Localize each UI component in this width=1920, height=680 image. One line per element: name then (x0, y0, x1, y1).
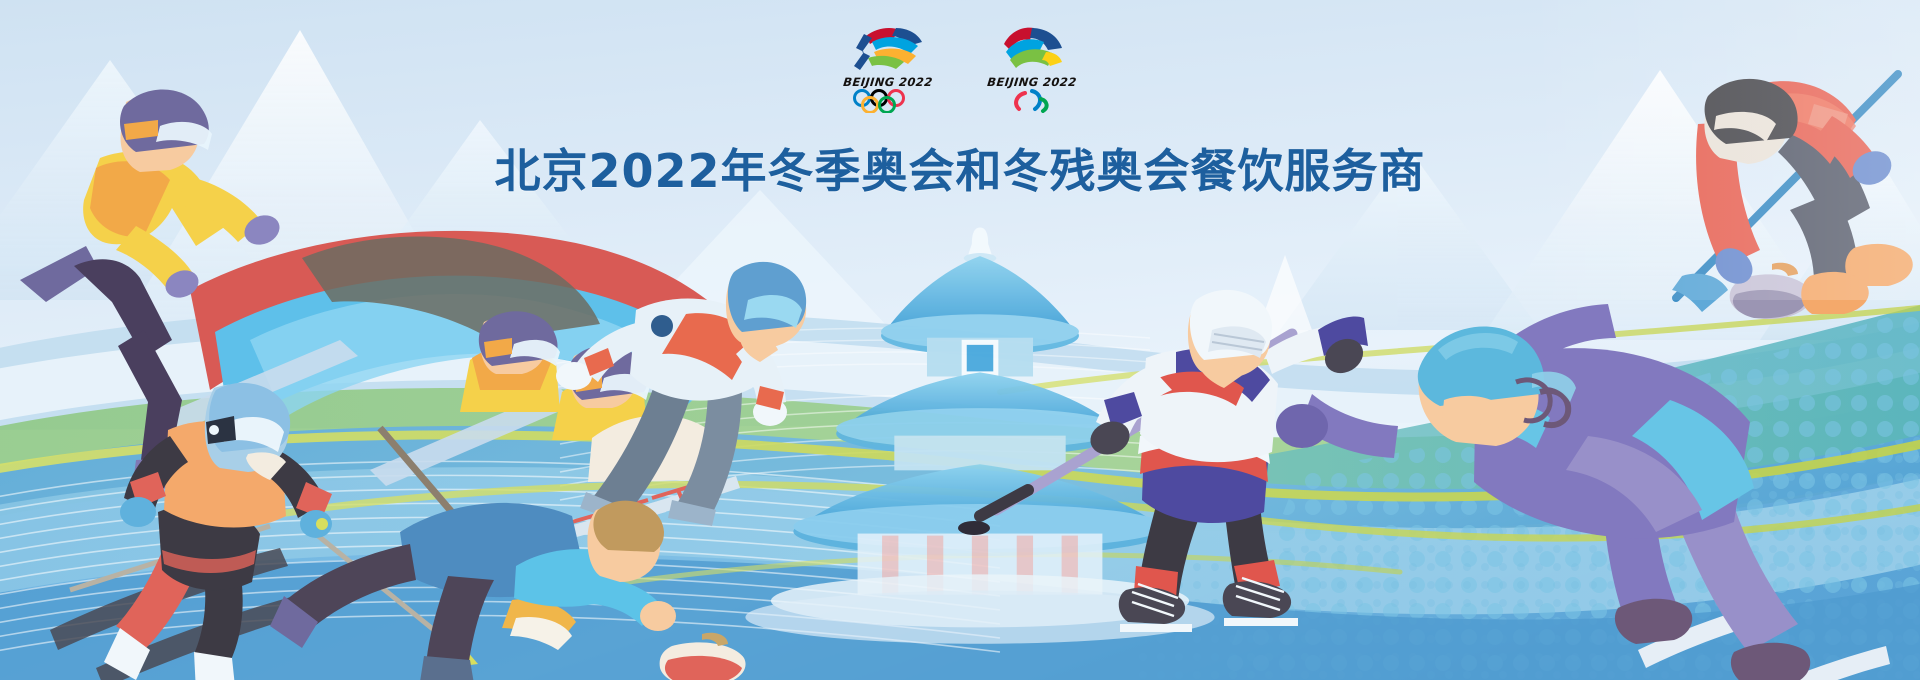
beijing-2022-olympic-emblem: BEIJING 2022 (833, 22, 943, 113)
olympic-wordmark: BEIJING 2022 (832, 75, 943, 89)
emblem-group: BEIJING 2022 (0, 0, 1920, 113)
olympic-rings-icon (849, 89, 927, 113)
page-title: 北京2022年冬季奥会和冬残奥会餐饮服务商 (0, 135, 1920, 201)
paralympic-wordmark: BEIJING 2022 (976, 75, 1087, 89)
agitos-icon (993, 89, 1071, 113)
olympic-banner: BEIJING 2022 (0, 0, 1920, 680)
banner-header: BEIJING 2022 (0, 0, 1920, 201)
beijing-2022-paralympic-emblem: BEIJING 2022 (977, 22, 1087, 113)
paralympic-emblem-icon (990, 22, 1074, 74)
olympic-emblem-icon (846, 22, 930, 74)
